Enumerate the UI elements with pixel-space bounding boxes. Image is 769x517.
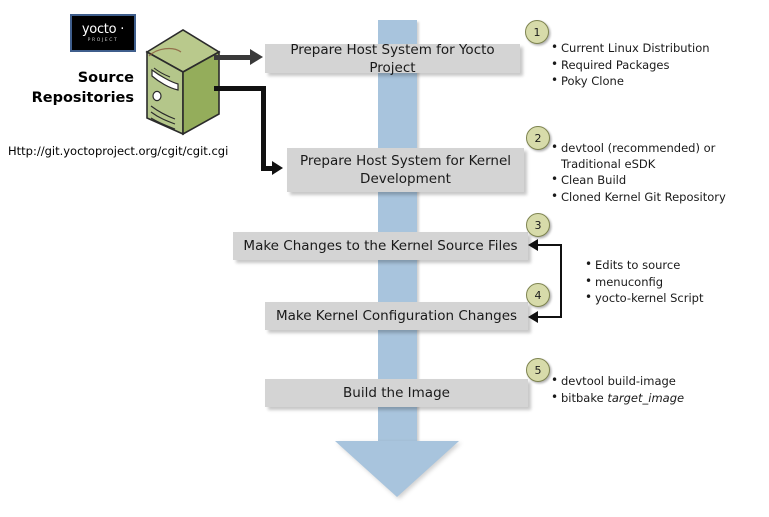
list-item: Poky Clone [561,74,763,90]
connector-bracket-bottom [538,316,562,318]
list-item: devtool build-image [561,374,763,390]
server-icon [133,26,223,140]
list-item: Cloned Kernel Git Repository [561,190,763,206]
list-item: Required Packages [561,58,763,74]
list-item: Current Linux Distribution [561,41,763,57]
list-item: bitbake target_image [561,391,763,407]
step-badge-3: 3 [526,213,550,237]
step-box-3-label: Make Changes to the Kernel Source Files [243,237,517,255]
yocto-logo-wordmark: yocto· [82,23,124,36]
step-box-5[interactable]: Build the Image [265,379,528,407]
step-badge-1: 1 [525,20,549,44]
yocto-logo: yocto· PROJECT [70,14,136,52]
step-1-bullets: Current Linux Distribution Required Pack… [548,41,763,91]
step-badge-2-number: 2 [535,132,542,145]
step-badge-4: 4 [526,283,550,307]
source-label-line2: Repositories [14,88,134,108]
connector-bracket-arrow-to-step3 [528,239,538,251]
source-label-line1: Source [14,68,134,88]
connector-server-to-step2-h1 [214,86,266,91]
step-box-4-label: Make Kernel Configuration Changes [276,307,517,325]
connector-bracket-top [538,244,562,246]
list-item: menuconfig [595,275,762,291]
step-badge-2: 2 [526,126,550,150]
steps-3-4-bullets: Edits to source menuconfig yocto-kernel … [582,258,762,308]
step-box-1[interactable]: Prepare Host System for Yocto Project [265,44,520,73]
step-badge-1-number: 1 [534,26,541,39]
connector-bracket-arrow-to-step4 [528,311,538,323]
connector-server-to-step1 [214,55,252,60]
diagram-canvas: yocto· PROJECT Source Repositories Http:… [0,0,769,517]
source-repositories-label: Source Repositories [14,68,134,108]
source-repository-url: Http://git.yoctoproject.org/cgit/cgit.cg… [8,144,228,158]
list-item: Clean Build [561,173,763,189]
step-box-4[interactable]: Make Kernel Configuration Changes [265,302,528,330]
step-badge-5-number: 5 [535,364,542,377]
connector-bracket-vertical [560,244,562,318]
step-box-2-label: Prepare Host System for Kernel Developme… [297,152,514,188]
step-box-5-label: Build the Image [343,384,450,402]
connector-server-to-step2-arrowhead [272,161,283,175]
list-item: devtool (recommended) or Traditional eSD… [561,141,763,172]
flow-arrow-head [335,441,459,497]
step-box-2[interactable]: Prepare Host System for Kernel Developme… [287,148,524,192]
step-box-3[interactable]: Make Changes to the Kernel Source Files [233,232,528,260]
connector-server-to-step1-arrowhead [250,49,263,65]
step-badge-3-number: 3 [535,219,542,232]
connector-server-to-step2-v [261,86,266,171]
list-item: Edits to source [595,258,762,274]
step-2-bullets: devtool (recommended) or Traditional eSD… [548,141,763,206]
step-badge-5: 5 [526,358,550,382]
list-item: yocto-kernel Script [595,291,762,307]
bitbake-target-arg: target_image [607,391,684,405]
yocto-logo-subtext: PROJECT [88,37,119,44]
step-box-1-label: Prepare Host System for Yocto Project [275,41,510,77]
step-badge-4-number: 4 [535,289,542,302]
step-5-bullets: devtool build-image bitbake target_image [548,374,763,407]
